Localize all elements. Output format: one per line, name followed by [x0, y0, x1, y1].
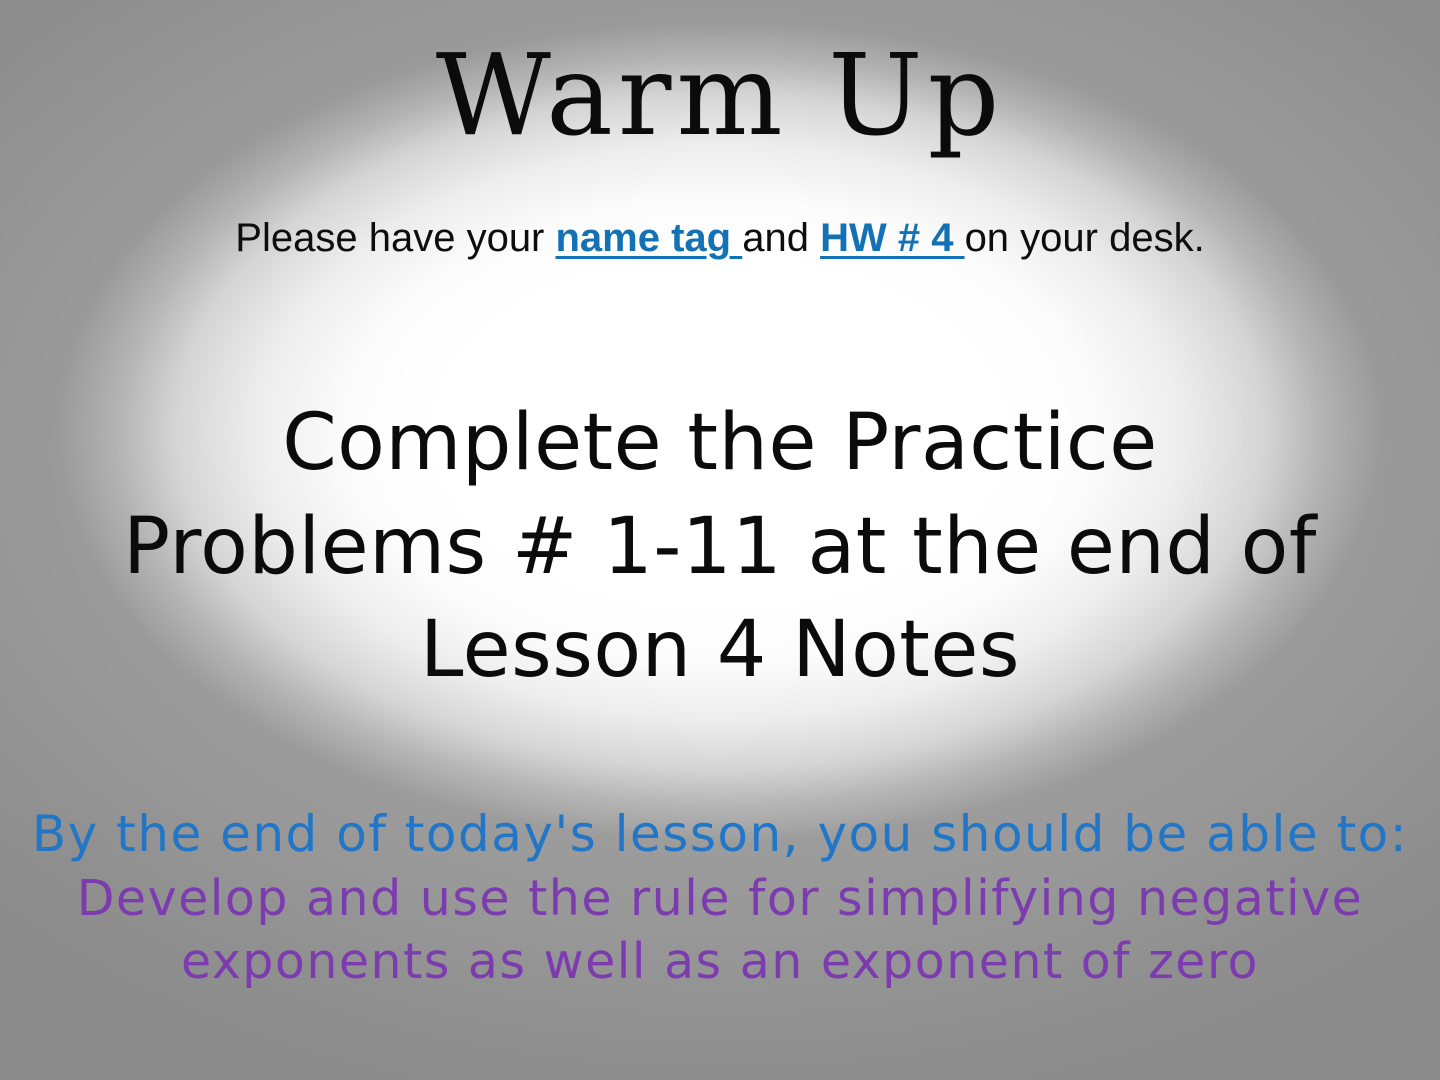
- subline-text-plain-3: on your desk.: [965, 216, 1205, 260]
- subline-text-plain-2: and: [742, 216, 820, 260]
- objective-lead-line: By the end of today's lesson, you should…: [0, 802, 1440, 866]
- subline-text-plain-1: Please have your: [235, 216, 555, 260]
- practice-instruction-line-1: Complete the Practice: [110, 392, 1330, 496]
- subline-link-hw-4[interactable]: HW # 4: [820, 216, 964, 260]
- objective-body: Develop and use the rule for simplifying…: [0, 868, 1440, 993]
- objective-body-line-1: Develop and use the rule for simplifying…: [0, 868, 1440, 931]
- lesson-objective-block: By the end of today's lesson, you should…: [0, 802, 1440, 993]
- practice-instruction-line-3: Lesson 4 Notes: [110, 599, 1330, 703]
- subline-link-name-tag[interactable]: name tag: [556, 216, 743, 260]
- materials-instruction-line: Please have your name tag and HW # 4 on …: [0, 214, 1440, 262]
- practice-instruction-block: Complete the Practice Problems # 1-11 at…: [110, 392, 1330, 703]
- objective-body-line-2: exponents as well as an exponent of zero: [0, 931, 1440, 994]
- slide-content-layer: Warm Up Please have your name tag and HW…: [0, 0, 1440, 1080]
- practice-instruction-line-2: Problems # 1-11 at the end of: [110, 496, 1330, 600]
- page-title: Warm Up: [0, 34, 1440, 159]
- slide-canvas: Warm Up Please have your name tag and HW…: [0, 0, 1440, 1080]
